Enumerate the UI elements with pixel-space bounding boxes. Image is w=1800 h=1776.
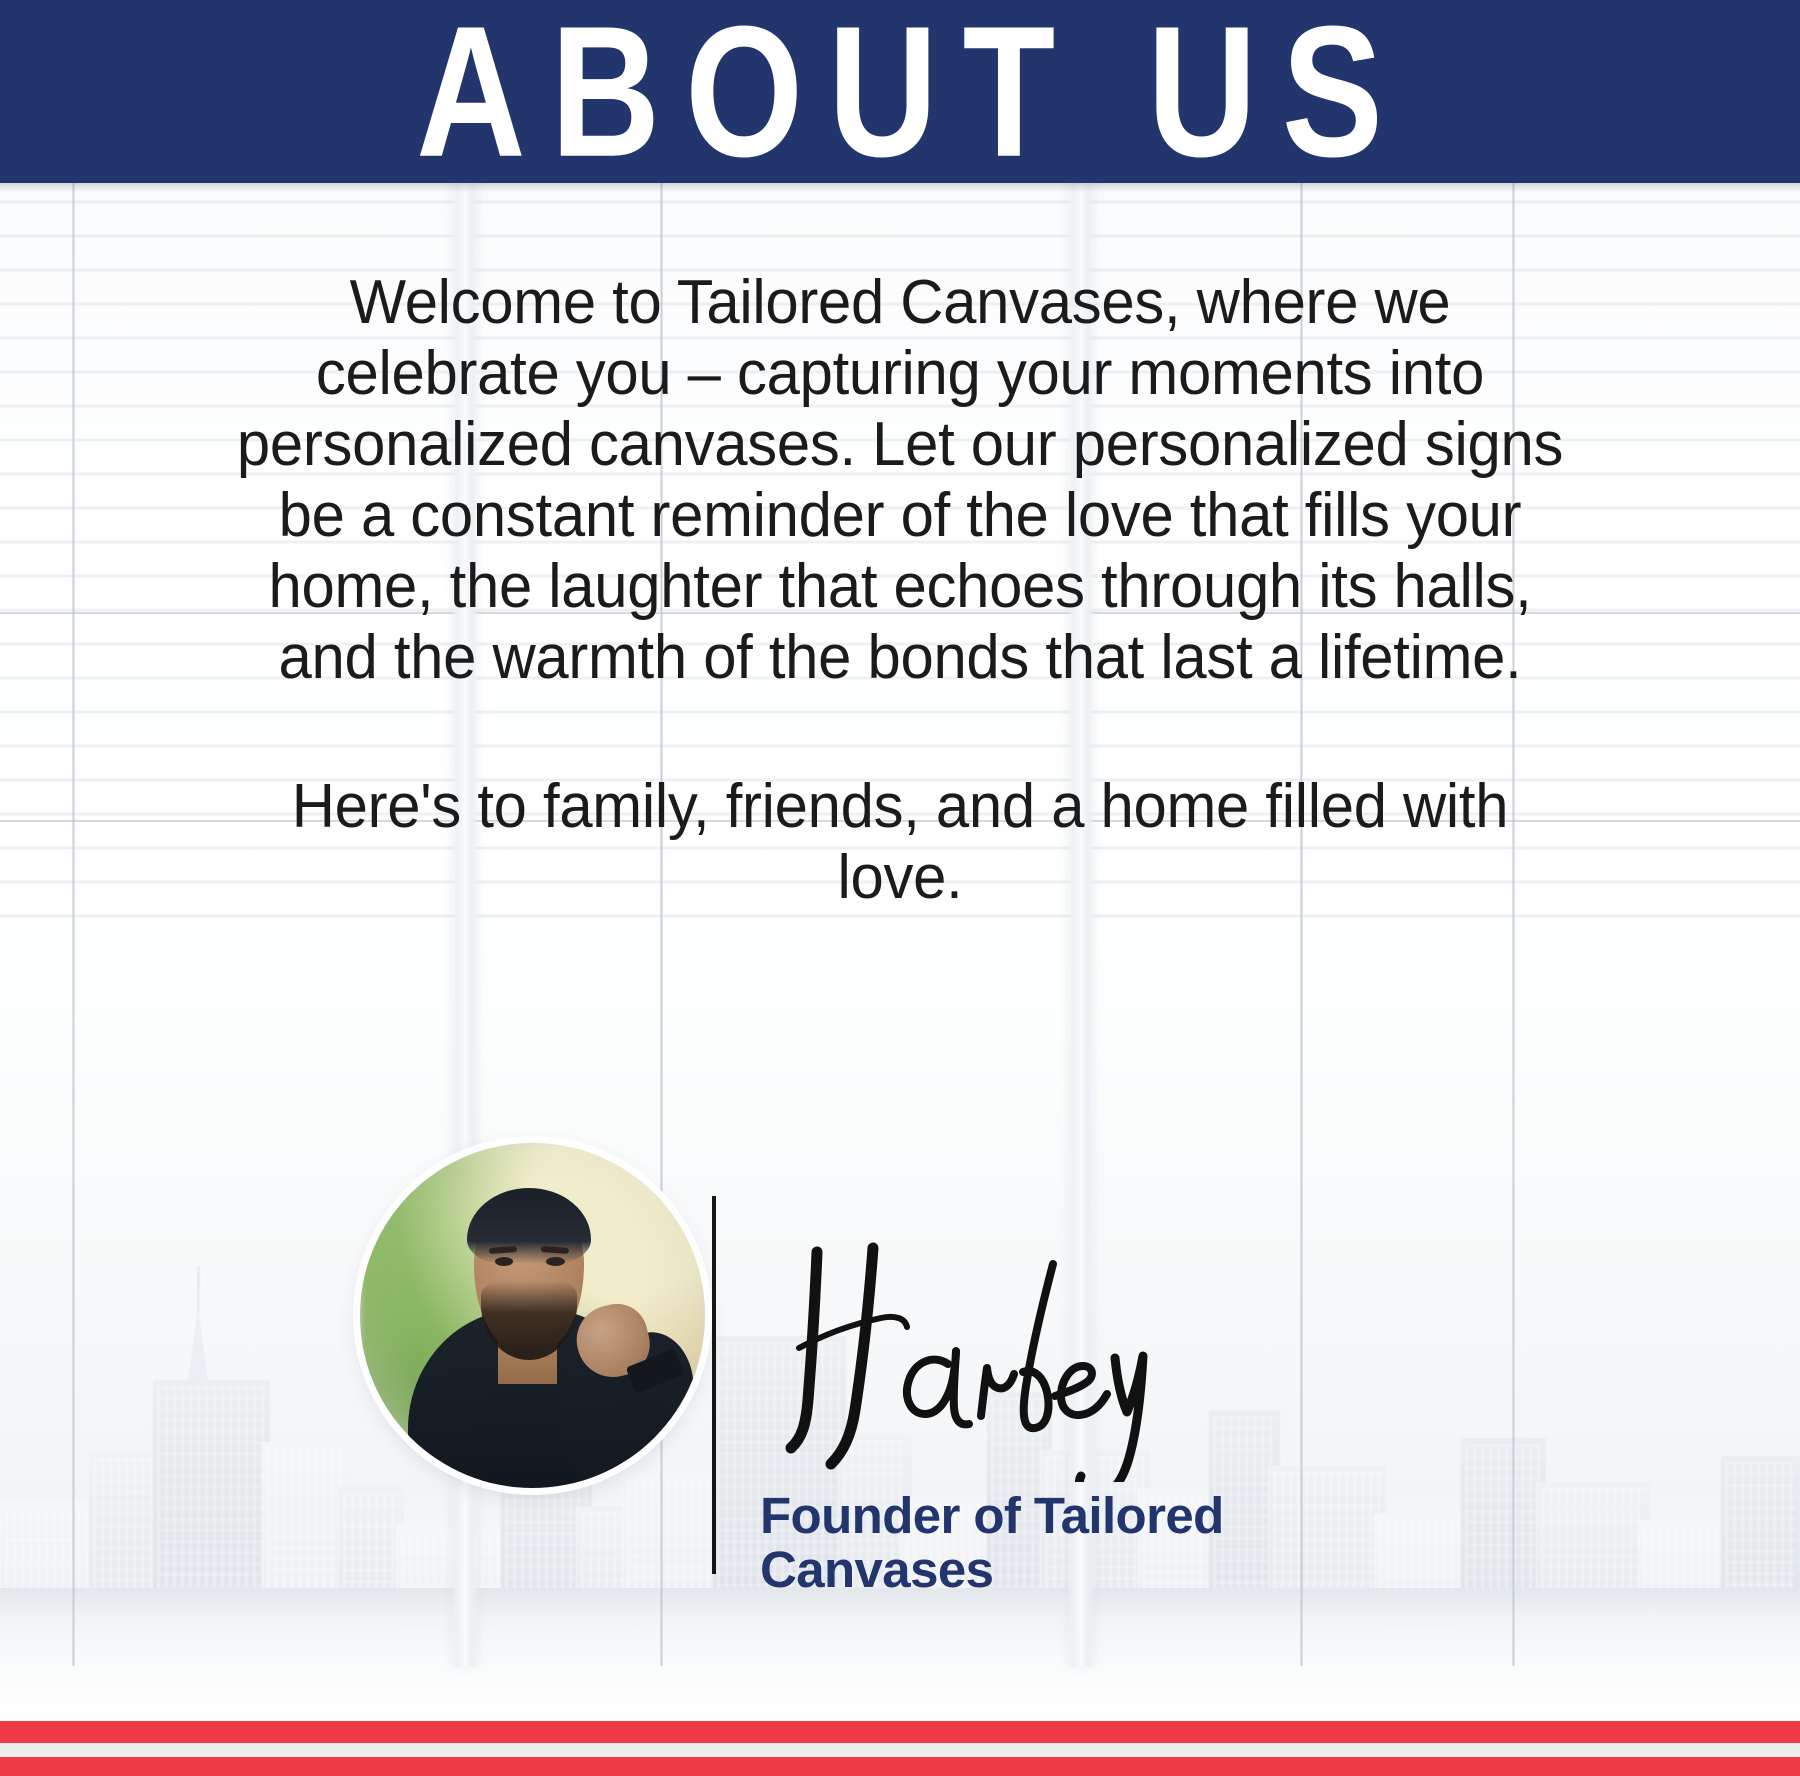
founder-role-line-2: Canvases [760,1543,1280,1597]
about-us-page: ABOUT US Welcome to Tailored Canvases, w… [0,0,1800,1776]
avatar [360,1143,705,1488]
signature-harley [755,1152,1185,1482]
pyramid-spire-icon [197,1266,200,1312]
window-sill [0,1588,1800,1720]
signature-divider [712,1196,716,1574]
founder-role-line-1: Founder of Tailored [760,1489,1280,1543]
window-mullion [72,183,75,1666]
founder-role: Founder of Tailored Canvases [760,1489,1280,1597]
paragraph-spacer [225,694,1576,772]
footer-stripe-top [0,1721,1800,1743]
paragraph-2: Here's to family, friends, and a home fi… [225,772,1576,914]
paragraph-1: Welcome to Tailored Canvases, where we c… [225,268,1576,694]
footer-stripe-bottom [0,1757,1800,1776]
about-us-body: Welcome to Tailored Canvases, where we c… [225,268,1576,914]
footer-stripe-gap [0,1743,1800,1757]
avatar-vignette [360,1143,705,1488]
header-banner: ABOUT US [0,0,1800,183]
header-drop-shadow [0,183,1800,192]
page-title: ABOUT US [392,0,1409,185]
